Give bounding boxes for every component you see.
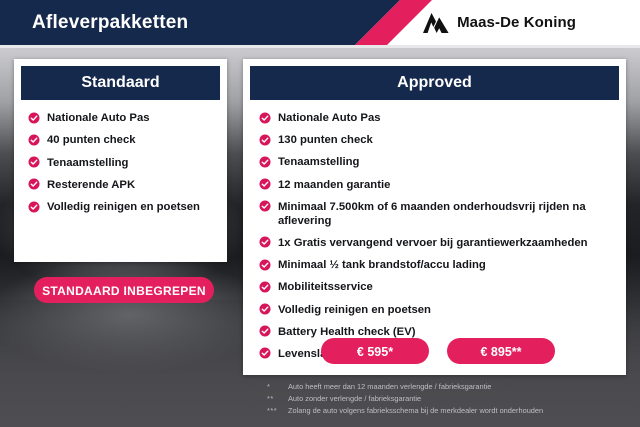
footnote: **Auto zonder verlengde / fabrieksgarant… (267, 393, 617, 404)
check-circle-icon (28, 134, 40, 146)
footnote: ***Zolang de auto volgens fabrieksschema… (267, 405, 617, 416)
brand-name: Maas-De Koning (457, 14, 576, 31)
list-item: Volledig reinigen en poetsen (259, 303, 616, 317)
list-item: Minimaal ½ tank brandstof/accu lading (259, 258, 616, 272)
list-item-label: 1x Gratis vervangend vervoer bij garanti… (278, 236, 588, 250)
check-circle-icon (28, 201, 40, 213)
list-item: 40 punten check (28, 133, 217, 147)
list-item-label: Resterende APK (47, 178, 135, 192)
check-circle-icon (259, 281, 271, 293)
list-item-label: Volledig reinigen en poetsen (278, 303, 431, 317)
check-circle-icon (259, 134, 271, 146)
list-item-label: Minimaal 7.500km of 6 maanden onderhouds… (278, 200, 616, 228)
check-circle-icon (259, 259, 271, 271)
check-circle-icon (259, 200, 271, 212)
check-circle-icon (259, 325, 271, 337)
footnote-marker: *** (267, 405, 281, 416)
maas-de-koning-m-logo-icon (423, 13, 449, 33)
check-circle-icon (28, 112, 40, 124)
check-circle-icon (259, 236, 271, 248)
standard-package-card: Standaard Nationale Auto Pas40 punten ch… (14, 59, 227, 262)
check-circle-icon (259, 178, 271, 190)
check-circle-icon (259, 112, 271, 124)
check-circle-icon (259, 156, 271, 168)
list-item-label: Minimaal ½ tank brandstof/accu lading (278, 258, 486, 272)
list-item-label: Battery Health check (EV) (278, 325, 416, 339)
list-item: Nationale Auto Pas (259, 111, 616, 125)
check-circle-icon (28, 178, 40, 190)
list-item-label: Nationale Auto Pas (278, 111, 381, 125)
approved-feature-list: Nationale Auto Pas130 punten checkTenaam… (243, 100, 626, 361)
list-item: Minimaal 7.500km of 6 maanden onderhouds… (259, 200, 616, 228)
list-item: Tenaamstelling (259, 155, 616, 169)
list-item-label: Tenaamstelling (47, 156, 128, 170)
list-item: Resterende APK (28, 178, 217, 192)
list-item-label: Nationale Auto Pas (47, 111, 150, 125)
approved-card-heading: Approved (250, 66, 619, 100)
list-item: 130 punten check (259, 133, 616, 147)
check-circle-icon (259, 303, 271, 315)
list-item-label: 40 punten check (47, 133, 136, 147)
check-circle-icon (259, 347, 271, 359)
list-item-label: Volledig reinigen en poetsen (47, 200, 200, 214)
footnote-text: Auto zonder verlengde / fabrieksgarantie (288, 393, 617, 404)
price-button[interactable]: € 895** (447, 338, 555, 364)
standard-card-heading: Standaard (21, 66, 220, 100)
footnote-text: Auto heeft meer dan 12 maanden verlengde… (288, 381, 617, 392)
footnotes: *Auto heeft meer dan 12 maanden verlengd… (267, 381, 617, 417)
list-item: Battery Health check (EV) (259, 325, 616, 339)
list-item-label: Mobiliteitsservice (278, 280, 373, 294)
footnote: *Auto heeft meer dan 12 maanden verlengd… (267, 381, 617, 392)
approved-price-buttons: € 595*€ 895** (321, 338, 555, 364)
page-header: Afleverpakketten Maas-De Koning (0, 0, 640, 45)
brand-logo: Maas-De Koning (423, 0, 576, 45)
footnote-marker: * (267, 381, 281, 392)
delivery-packages-slide: Afleverpakketten Maas-De Koning Standaar… (0, 0, 640, 427)
list-item: Tenaamstelling (28, 156, 217, 170)
page-title: Afleverpakketten (32, 0, 188, 45)
footnote-marker: ** (267, 393, 281, 404)
list-item-label: 130 punten check (278, 133, 373, 147)
standaard-inbegrepen-button[interactable]: STANDAARD INBEGREPEN (34, 277, 214, 303)
list-item: 1x Gratis vervangend vervoer bij garanti… (259, 236, 616, 250)
list-item: 12 maanden garantie (259, 178, 616, 192)
list-item-label: Tenaamstelling (278, 155, 359, 169)
price-button[interactable]: € 595* (321, 338, 429, 364)
standard-feature-list: Nationale Auto Pas40 punten checkTenaams… (14, 100, 227, 214)
footnote-text: Zolang de auto volgens fabrieksschema bi… (288, 405, 617, 416)
list-item-label: 12 maanden garantie (278, 178, 390, 192)
approved-package-card: Approved Nationale Auto Pas130 punten ch… (243, 59, 626, 375)
header-divider (0, 45, 640, 48)
list-item: Mobiliteitsservice (259, 280, 616, 294)
list-item: Nationale Auto Pas (28, 111, 217, 125)
check-circle-icon (28, 156, 40, 168)
list-item: Volledig reinigen en poetsen (28, 200, 217, 214)
